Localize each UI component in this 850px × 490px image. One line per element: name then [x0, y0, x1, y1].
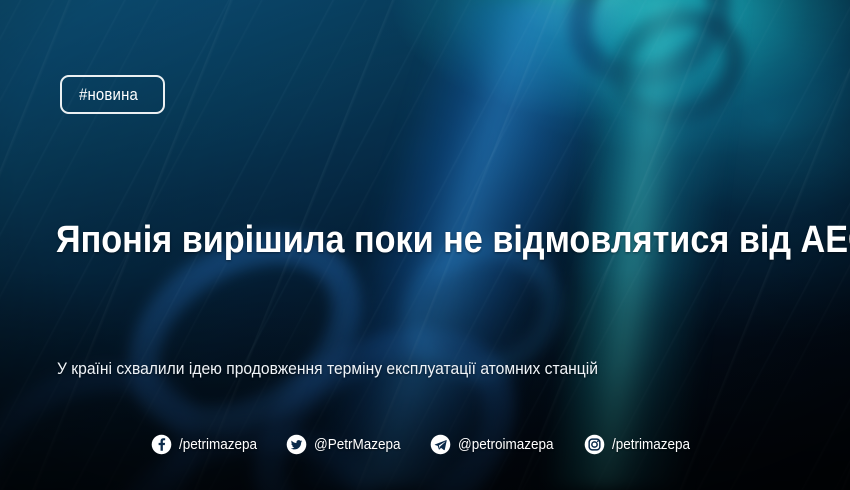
instagram-handle: /petrimazepa	[612, 436, 690, 453]
twitter-icon	[286, 434, 307, 455]
social-link-telegram[interactable]: @petroimazepa	[430, 434, 564, 455]
instagram-icon	[584, 434, 605, 455]
subtitle-text: У країні схвалили ідею продовження термі…	[57, 358, 765, 380]
category-tag-label: #новина	[79, 85, 138, 105]
social-link-facebook[interactable]: /petrimazepa	[151, 434, 266, 455]
headline-title: Японія вирішила поки не відмовлятися від…	[56, 218, 740, 262]
card-content: #новина Японія вирішила поки не відмовля…	[0, 0, 850, 490]
telegram-handle: @petroimazepa	[458, 436, 554, 453]
twitter-handle: @PetrMazepa	[314, 436, 400, 453]
facebook-handle: /petrimazepa	[179, 436, 257, 453]
facebook-icon	[151, 434, 172, 455]
social-link-twitter[interactable]: @PetrMazepa	[286, 434, 410, 455]
social-link-instagram[interactable]: /petrimazepa	[584, 434, 699, 455]
category-tag-badge[interactable]: #новина	[60, 75, 165, 114]
social-links-bar: /petrimazepa @PetrMazepa @petroimazepa	[0, 434, 850, 455]
news-card: #новина Японія вирішила поки не відмовля…	[0, 0, 850, 490]
telegram-icon	[430, 434, 451, 455]
